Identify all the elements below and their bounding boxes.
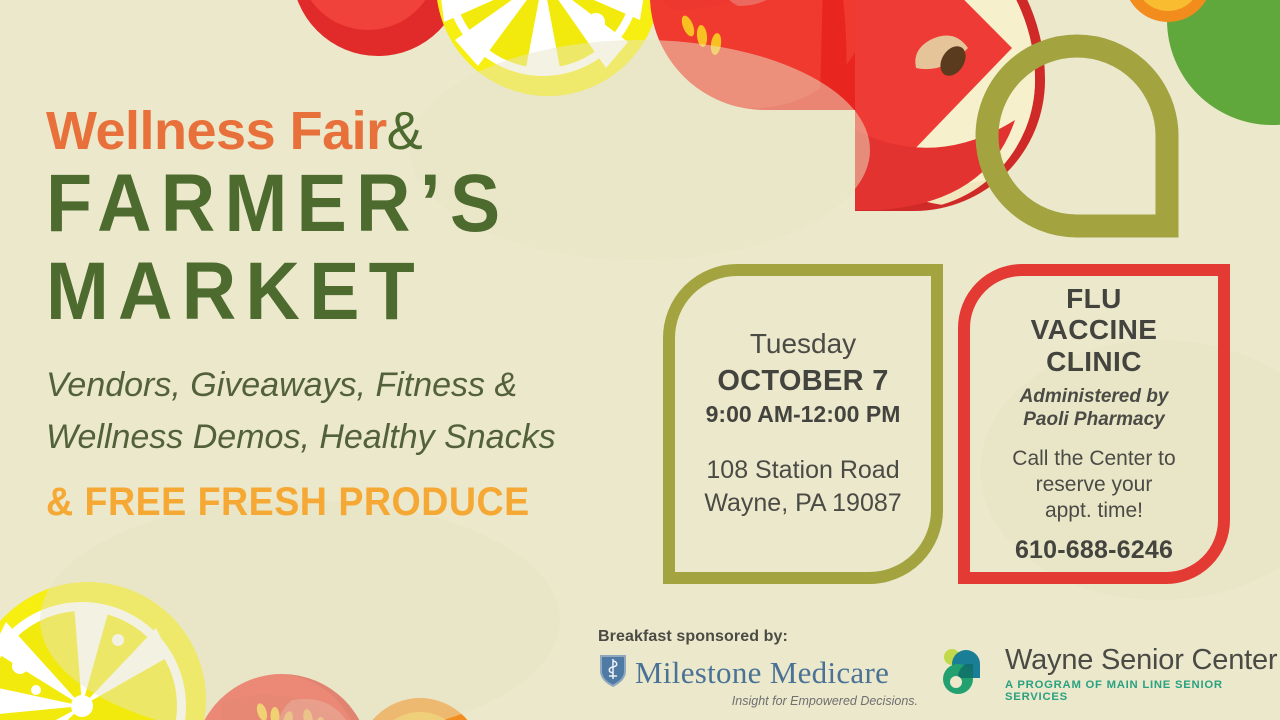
flu-clinic-phone-number[interactable]: 610-688-6246 bbox=[1015, 536, 1173, 565]
flu-clinic-box: FLU VACCINE CLINIC Administered by Paoli… bbox=[958, 264, 1230, 584]
shield-caduceus-icon bbox=[598, 652, 628, 693]
event-address-line-2: Wayne, PA 19087 bbox=[704, 487, 901, 520]
wayne-senior-center-name: Wayne Senior Center bbox=[1005, 646, 1280, 675]
flu-clinic-title-line-2: VACCINE bbox=[1031, 314, 1158, 345]
flu-clinic-call-line-1: Call the Center to bbox=[1012, 446, 1175, 472]
headline-subtitle-line-2: Wellness Demos, Healthy Snacks bbox=[46, 411, 666, 464]
wayne-senior-center-wordmark: Wayne Senior Center A PROGRAM OF MAIN LI… bbox=[1005, 646, 1280, 703]
flu-clinic-call-instructions: Call the Center to reserve your appt. ti… bbox=[1012, 446, 1175, 524]
flu-clinic-title-line-3: CLINIC bbox=[1031, 346, 1158, 377]
headline-wellness-fair-text: Wellness Fair bbox=[46, 101, 387, 161]
wayne-senior-center-mark-icon bbox=[940, 648, 996, 701]
headline-block: Wellness Fair& FARMER’S MARKET Vendors, … bbox=[46, 104, 666, 525]
flu-clinic-admin-line-1: Administered by bbox=[1020, 386, 1169, 409]
headline-subtitle-line-1: Vendors, Giveaways, Fitness & bbox=[46, 359, 666, 412]
milestone-medicare-logo: Milestone Medicare bbox=[598, 652, 918, 693]
event-address: 108 Station Road Wayne, PA 19087 bbox=[704, 454, 901, 520]
headline-subtitle: Vendors, Giveaways, Fitness & Wellness D… bbox=[46, 359, 666, 464]
headline-free-produce: & FREE FRESH PRODUCE bbox=[46, 480, 629, 525]
breakfast-sponsor-group: Breakfast sponsored by: Milestone Medica… bbox=[598, 628, 918, 708]
headline-ampersand: & bbox=[387, 101, 423, 161]
event-date: OCTOBER 7 bbox=[717, 365, 888, 398]
tomato-top-left-icon bbox=[292, 0, 464, 56]
event-time: 9:00 AM-12:00 PM bbox=[706, 401, 901, 428]
event-details-box: Tuesday OCTOBER 7 9:00 AM-12:00 PM 108 S… bbox=[663, 264, 943, 584]
headline-wellness-fair: Wellness Fair& bbox=[46, 104, 666, 158]
flu-clinic-call-line-3: appt. time! bbox=[1012, 498, 1175, 524]
milestone-medicare-name: Milestone Medicare bbox=[635, 655, 889, 691]
poster-canvas: Wellness Fair& FARMER’S MARKET Vendors, … bbox=[0, 0, 1280, 720]
wayne-senior-center-subtitle: A PROGRAM OF MAIN LINE SENIOR SERVICES bbox=[1005, 679, 1280, 703]
headline-market: MARKET bbox=[46, 252, 616, 332]
breakfast-sponsored-by-label: Breakfast sponsored by: bbox=[598, 628, 918, 646]
headline-farmers: FARMER’S bbox=[46, 164, 616, 244]
flu-clinic-administered-by: Administered by Paoli Pharmacy bbox=[1020, 386, 1169, 432]
event-day: Tuesday bbox=[750, 328, 856, 360]
sponsor-footer: Breakfast sponsored by: Milestone Medica… bbox=[0, 628, 1280, 720]
wayne-senior-center-logo: Wayne Senior Center A PROGRAM OF MAIN LI… bbox=[940, 646, 1280, 703]
flu-clinic-title-line-1: FLU bbox=[1031, 283, 1158, 314]
event-address-line-1: 108 Station Road bbox=[704, 454, 901, 487]
flu-clinic-call-line-2: reserve your bbox=[1012, 472, 1175, 498]
flu-clinic-title: FLU VACCINE CLINIC bbox=[1031, 283, 1158, 377]
flu-clinic-admin-line-2: Paoli Pharmacy bbox=[1020, 409, 1169, 432]
milestone-medicare-tagline: Insight for Empowered Decisions. bbox=[598, 694, 918, 708]
apple-cut-icon bbox=[824, 0, 1096, 211]
